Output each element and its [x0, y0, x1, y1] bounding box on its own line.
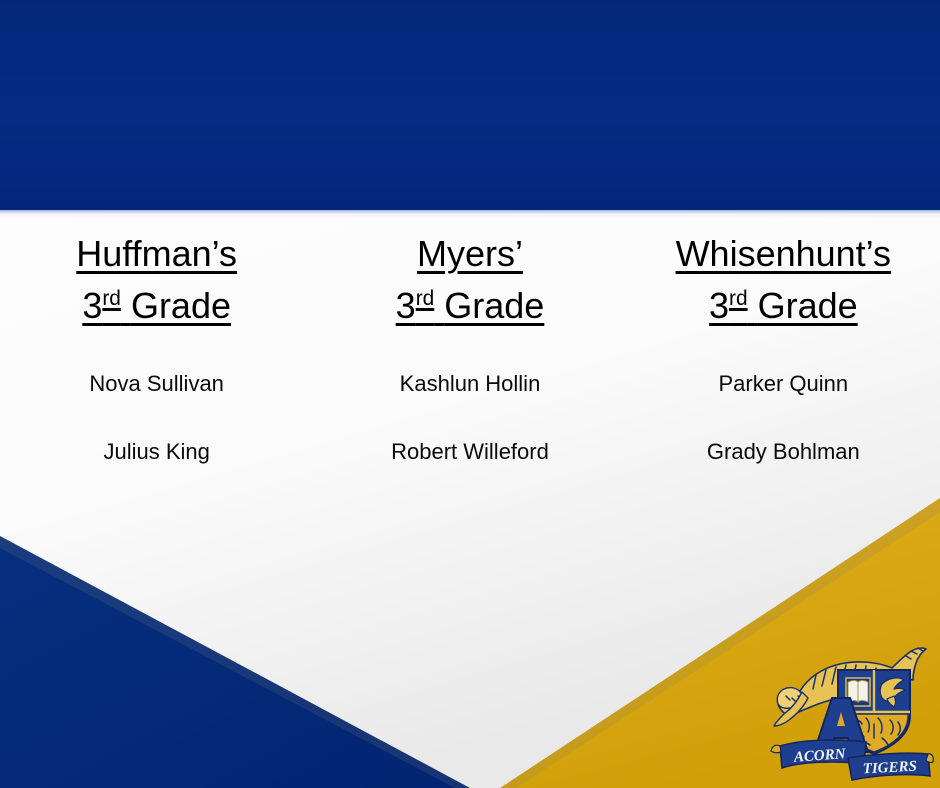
banner-acorn-label: ACORN: [792, 746, 847, 766]
list-item: Nova Sullivan: [8, 370, 305, 398]
grade-word: Grade: [131, 285, 231, 326]
list-item: Julius King: [8, 438, 305, 466]
list-item: Parker Quinn: [635, 370, 932, 398]
grade-word: Grade: [758, 285, 858, 326]
student-list: Parker Quinn Grady Bohlman: [635, 370, 932, 466]
banner-tigers-label: TIGERS: [862, 759, 917, 778]
header-shadow: [0, 210, 940, 219]
grade-ordinal: rd: [102, 287, 121, 310]
class-column-header: Huffman’s 3rd Grade: [8, 228, 305, 332]
header-band: [0, 0, 940, 210]
class-columns: Huffman’s 3rd Grade Nova Sullivan Julius…: [0, 228, 940, 466]
grade-number: 3: [709, 285, 729, 326]
teacher-name: Myers’: [417, 233, 523, 274]
class-favorites-content: Huffman’s 3rd Grade Nova Sullivan Julius…: [0, 228, 940, 466]
class-column-huffman: Huffman’s 3rd Grade Nova Sullivan Julius…: [0, 228, 313, 466]
teacher-name: Huffman’s: [76, 233, 237, 274]
list-item: Robert Willeford: [321, 438, 618, 466]
grade-number: 3: [396, 285, 416, 326]
class-column-header: Myers’ 3rd Grade: [321, 228, 618, 332]
student-list: Nova Sullivan Julius King: [8, 370, 305, 466]
school-logo: ACORN TIGERS: [770, 612, 935, 782]
list-item: Grady Bohlman: [635, 438, 932, 466]
teacher-name: Whisenhunt’s: [676, 233, 891, 274]
grade-ordinal: rd: [416, 287, 435, 310]
grade-number: 3: [82, 285, 102, 326]
poster-canvas: Acorn Elementary Class Favorites Huffman…: [0, 0, 940, 788]
student-list: Kashlun Hollin Robert Willeford: [321, 370, 618, 466]
class-column-header: Whisenhunt’s 3rd Grade: [635, 228, 932, 332]
list-item: Kashlun Hollin: [321, 370, 618, 398]
class-column-whisenhunt: Whisenhunt’s 3rd Grade Parker Quinn Grad…: [627, 228, 940, 466]
banner-tigers: TIGERS: [848, 753, 933, 780]
grade-word: Grade: [444, 285, 544, 326]
grade-ordinal: rd: [729, 287, 748, 310]
class-column-myers: Myers’ 3rd Grade Kashlun Hollin Robert W…: [313, 228, 626, 466]
